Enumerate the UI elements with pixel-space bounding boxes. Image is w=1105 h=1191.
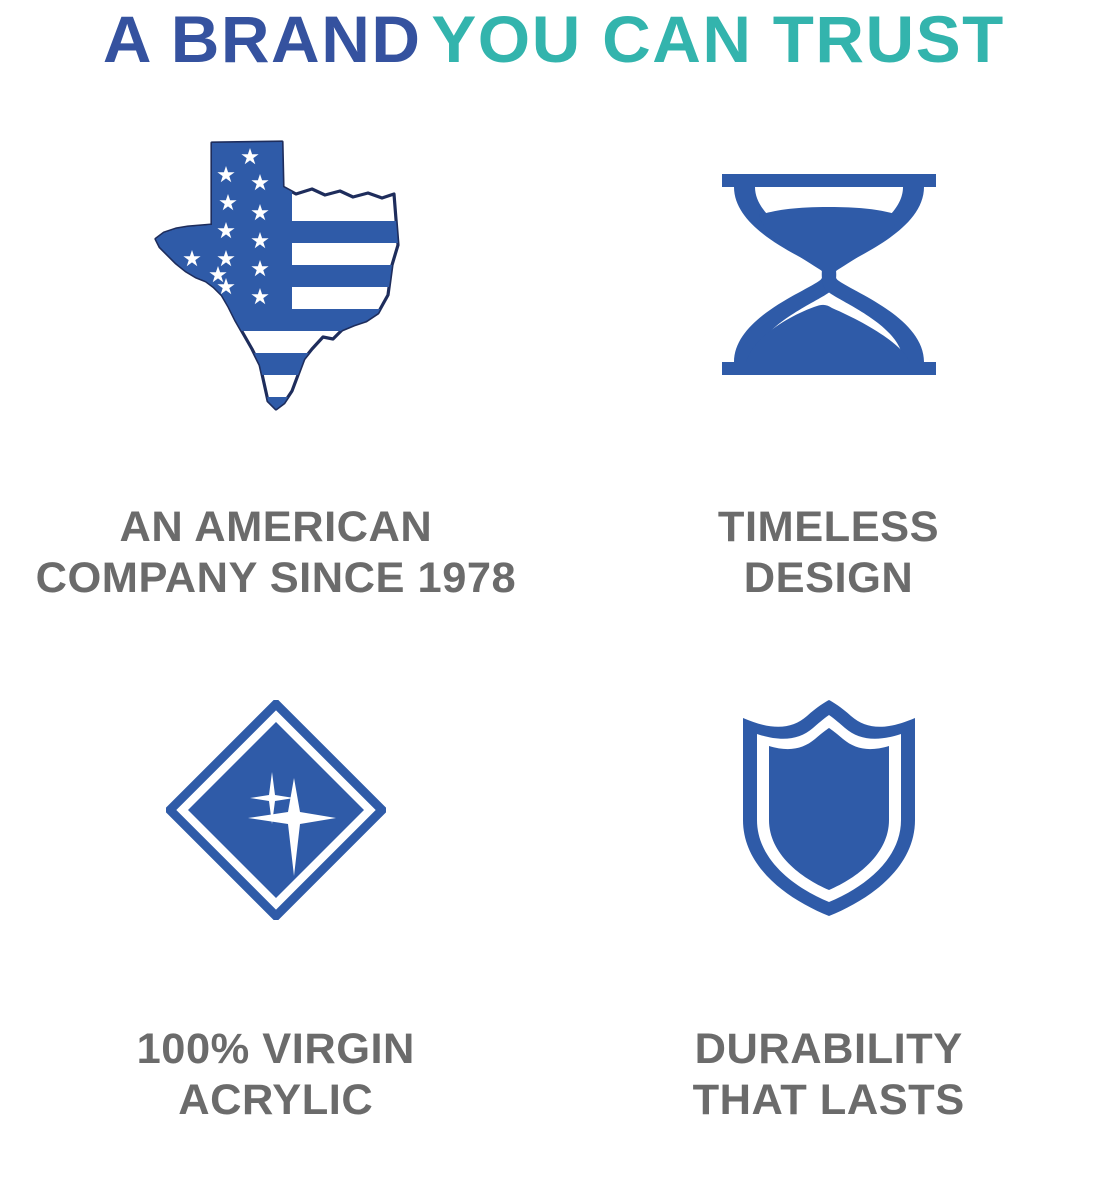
feature-caption-timeless-design: TIMELESS DESIGN — [718, 502, 939, 603]
page-title-part-one: A BRAND — [103, 6, 422, 72]
feature-caption-virgin-acrylic: 100% VIRGIN ACRYLIC — [137, 1024, 415, 1125]
diamond-fill — [188, 722, 364, 898]
hourglass-sand-top — [759, 207, 899, 273]
feature-caption-durability: DURABILITY THAT LASTS — [693, 1024, 965, 1125]
shield-icon-box — [553, 650, 1105, 970]
diamond-sparkle-icon-box — [0, 650, 552, 970]
hourglass-icon — [714, 170, 944, 380]
brand-trust-infographic: A BRANDYOU CAN TRUST — [0, 0, 1105, 1191]
feature-cell-durability: DURABILITY THAT LASTS — [553, 650, 1105, 1190]
hourglass-sand-stream — [826, 266, 832, 286]
page-title: A BRANDYOU CAN TRUST — [0, 0, 1105, 78]
page-title-part-two: YOU CAN TRUST — [431, 6, 1004, 72]
feature-caption-american-company: AN AMERICAN COMPANY SINCE 1978 — [36, 502, 517, 603]
feature-cell-american-company: AN AMERICAN COMPANY SINCE 1978 — [0, 110, 552, 650]
texas-flag-icon — [126, 125, 426, 425]
feature-cell-virgin-acrylic: 100% VIRGIN ACRYLIC — [0, 650, 552, 1190]
feature-cell-timeless-design: TIMELESS DESIGN — [553, 110, 1105, 650]
hourglass-icon-box — [553, 110, 1105, 440]
texas-flag-icon-box — [0, 110, 552, 440]
diamond-sparkle-icon — [166, 700, 386, 920]
feature-grid: AN AMERICAN COMPANY SINCE 1978 — [0, 110, 1105, 1191]
shield-icon — [729, 700, 929, 920]
